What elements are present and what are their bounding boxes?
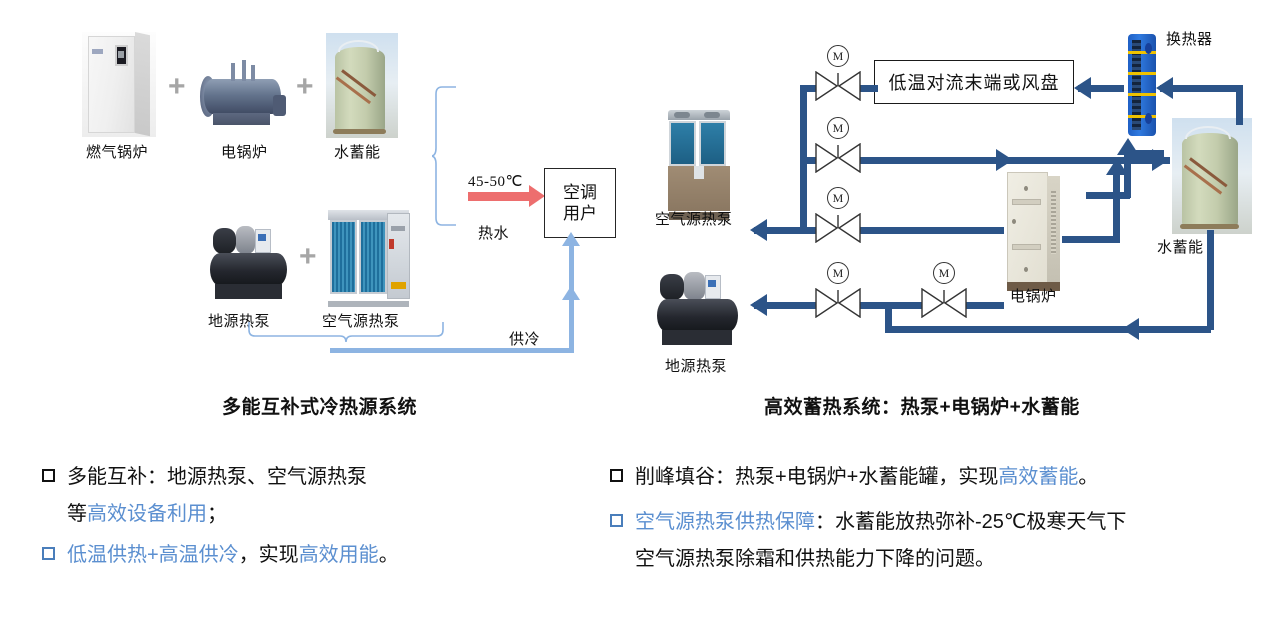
pipe-hx-down — [1124, 150, 1131, 198]
left-b1-c1: 高效设备利用 — [87, 503, 207, 525]
hot-water-arrow — [468, 192, 530, 201]
bullet-marker-square-4 — [610, 514, 623, 527]
right-bullet-2-cont: 空气源热泵除霜和供热能力下降的问题。 — [610, 544, 1250, 575]
plus-icon-2: + — [296, 72, 314, 102]
right-b1-seg2: 。 — [1078, 466, 1098, 488]
valve-motor-icon-2: M — [827, 117, 849, 139]
left-b2-seg1: ，实现 — [239, 544, 299, 566]
cooling-arrow-top-icon — [562, 232, 580, 246]
pipe-return-bottom — [885, 326, 1211, 333]
ac-user-line1: 空调 — [563, 182, 597, 203]
motorized-valve-4[interactable]: M — [815, 288, 861, 318]
pipe-hx-up-arrow-icon — [1117, 138, 1139, 155]
right-b2-c0: 空气源热泵除霜和供热能力下降的问题。 — [635, 548, 995, 570]
right-water-storage-label: 水蓄能 — [1157, 236, 1204, 257]
right-ground-source-heat-pump-image — [653, 262, 745, 354]
valve-motor-icon-1: M — [827, 45, 849, 67]
right-air-source-heat-pump-label: 空气源热泵 — [655, 208, 733, 229]
bullet-marker-square-2 — [42, 547, 55, 560]
right-electric-boiler-label: 电锅炉 — [1010, 285, 1057, 306]
valve-motor-icon-4: M — [827, 262, 849, 284]
right-bullet-1-text: 削峰填谷：热泵+电锅炉+水蓄能罐，实现高效蓄能。 — [635, 462, 1098, 493]
left-b1-c2: ； — [207, 503, 227, 525]
pipe-eboiler-outlet — [1062, 236, 1120, 243]
water-storage-label: 水蓄能 — [334, 141, 381, 162]
right-ground-source-heat-pump-label: 地源热泵 — [665, 355, 727, 376]
right-air-source-heat-pump-image — [665, 108, 733, 220]
right-b1-seg1: 高效蓄能 — [998, 466, 1078, 488]
left-bullet-1-cont: 等高效设备利用； — [42, 499, 542, 530]
cooling-label: 供冷 — [509, 328, 540, 349]
pipe-branch3-right — [856, 227, 1004, 234]
pipe-branch4-right — [962, 302, 1004, 309]
air-source-heat-pump-image — [324, 204, 416, 308]
heat-source-bracket — [432, 86, 458, 226]
electric-boiler-image — [198, 55, 290, 135]
bullet-marker-square-1 — [42, 469, 55, 482]
plate-heat-exchanger-label: 换热器 — [1166, 28, 1213, 49]
motorized-valve-3[interactable]: M — [815, 213, 861, 243]
left-system-title: 多能互补式冷热源系统 — [222, 392, 417, 419]
right-b2-seg1: ：水蓄能放热弥补-25℃极寒天气下 — [815, 511, 1126, 533]
left-bullet-1: 多能互补：地源热泵、空气源热泵 — [42, 462, 542, 493]
pipe-branch3-arrow-icon — [750, 219, 767, 241]
cooling-arrow-mid-icon — [562, 286, 580, 300]
pipe-branch2-arrow-icon — [996, 149, 1013, 171]
pipe-eboiler-riser — [1113, 172, 1120, 240]
left-bullet-1-text: 多能互补：地源热泵、空气源热泵 — [67, 462, 367, 493]
right-system-title: 高效蓄热系统：热泵+电锅炉+水蓄能 — [764, 392, 1080, 419]
right-b2-seg0: 空气源热泵供热保障 — [635, 511, 815, 533]
pipe-return-up — [885, 302, 892, 330]
right-b1-seg0: 削峰填谷：热泵+电锅炉+水蓄能罐，实现 — [635, 466, 998, 488]
ac-user-line2: 用户 — [563, 203, 597, 224]
heat-pump-bracket — [248, 322, 444, 350]
valve-motor-icon-3: M — [827, 187, 849, 209]
pipe-hx-return — [1086, 192, 1130, 199]
ac-user-box: 空调 用户 — [544, 168, 616, 238]
left-bullet-2: 低温供热+高温供冷，实现高效用能。 — [42, 540, 542, 571]
gas-boiler-image — [82, 32, 156, 137]
left-bullet-list: 多能互补：地源热泵、空气源热泵 等高效设备利用； 低温供热+高温供冷，实现高效用… — [42, 462, 542, 577]
gas-boiler-label: 燃气锅炉 — [86, 141, 148, 162]
right-electric-boiler-image — [1000, 166, 1066, 292]
terminal-box: 低温对流末端或风盘 — [874, 60, 1074, 104]
pipe-branch4-arrow-icon — [750, 294, 767, 316]
slide-canvas: 燃气锅炉 + 电锅炉 + 水蓄能 地源热泵 + 空气源热泵 — [0, 0, 1261, 622]
pipe-terminal-in-arrow-icon — [1074, 77, 1091, 99]
electric-boiler-label: 电锅炉 — [221, 141, 268, 162]
motorized-valve-5[interactable]: M — [921, 288, 967, 318]
right-bullet-2: 空气源热泵供热保障：水蓄能放热弥补-25℃极寒天气下 — [610, 507, 1250, 538]
left-b2-seg2: 高效用能 — [299, 544, 379, 566]
left-b1-seg0: 多能互补：地源热泵、空气源热泵 — [67, 466, 367, 488]
plus-icon-3: + — [299, 242, 317, 272]
hot-water-label: 热水 — [478, 222, 509, 243]
pipe-hx-in-arrow-icon — [1156, 77, 1173, 99]
left-bullet-2-text: 低温供热+高温供冷，实现高效用能。 — [67, 540, 399, 571]
right-bullet-2-text: 空气源热泵供热保障：水蓄能放热弥补-25℃极寒天气下 — [635, 507, 1126, 538]
motorized-valve-2[interactable]: M — [815, 143, 861, 173]
ground-source-heat-pump-image — [206, 216, 294, 308]
left-b2-seg3: 。 — [379, 544, 399, 566]
bullet-marker-square-3 — [610, 469, 623, 482]
hot-water-temperature: 45-50℃ — [468, 172, 523, 191]
right-bullet-list: 削峰填谷：热泵+电锅炉+水蓄能罐，实现高效蓄能。 空气源热泵供热保障：水蓄能放热… — [610, 462, 1250, 575]
right-bullet-1: 削峰填谷：热泵+电锅炉+水蓄能罐，实现高效蓄能。 — [610, 462, 1250, 493]
right-water-storage-image — [1172, 118, 1252, 234]
plus-icon-1: + — [168, 72, 186, 102]
pipe-return-arrow-icon — [1122, 318, 1139, 340]
water-storage-image — [326, 33, 398, 138]
motorized-valve-1[interactable]: M — [815, 71, 861, 101]
pipe-branch4-mid — [856, 302, 928, 309]
pipe-return-tank-down — [1207, 230, 1214, 330]
left-b2-seg0: 低温供热+高温供冷 — [67, 544, 239, 566]
left-b1-c0: 等 — [67, 503, 87, 525]
valve-motor-icon-5: M — [933, 262, 955, 284]
